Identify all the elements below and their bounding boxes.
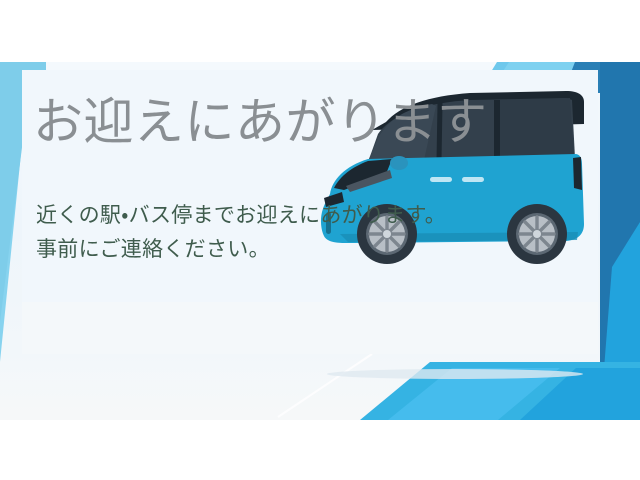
car-side-mirror (390, 156, 408, 170)
car-c-pillar (494, 100, 500, 160)
car-rear-door-handle (462, 177, 484, 182)
car-b-pillar (436, 103, 442, 161)
car-front-wheel (357, 204, 417, 264)
car-ground-shadow (327, 369, 583, 379)
car-rear-wheel (507, 204, 567, 264)
pickup-service-banner: お迎えにあがります 近くの駅・バス停までお迎えにあがります。 事前にご連絡くださ… (0, 0, 640, 480)
car-bumper-vent (326, 212, 331, 234)
banner-artboard (0, 62, 640, 420)
car-rear-quarter-glass (500, 98, 574, 159)
car-tail-light (573, 157, 582, 190)
minivan-illustration (0, 62, 640, 420)
car-front-door-handle (430, 177, 452, 182)
